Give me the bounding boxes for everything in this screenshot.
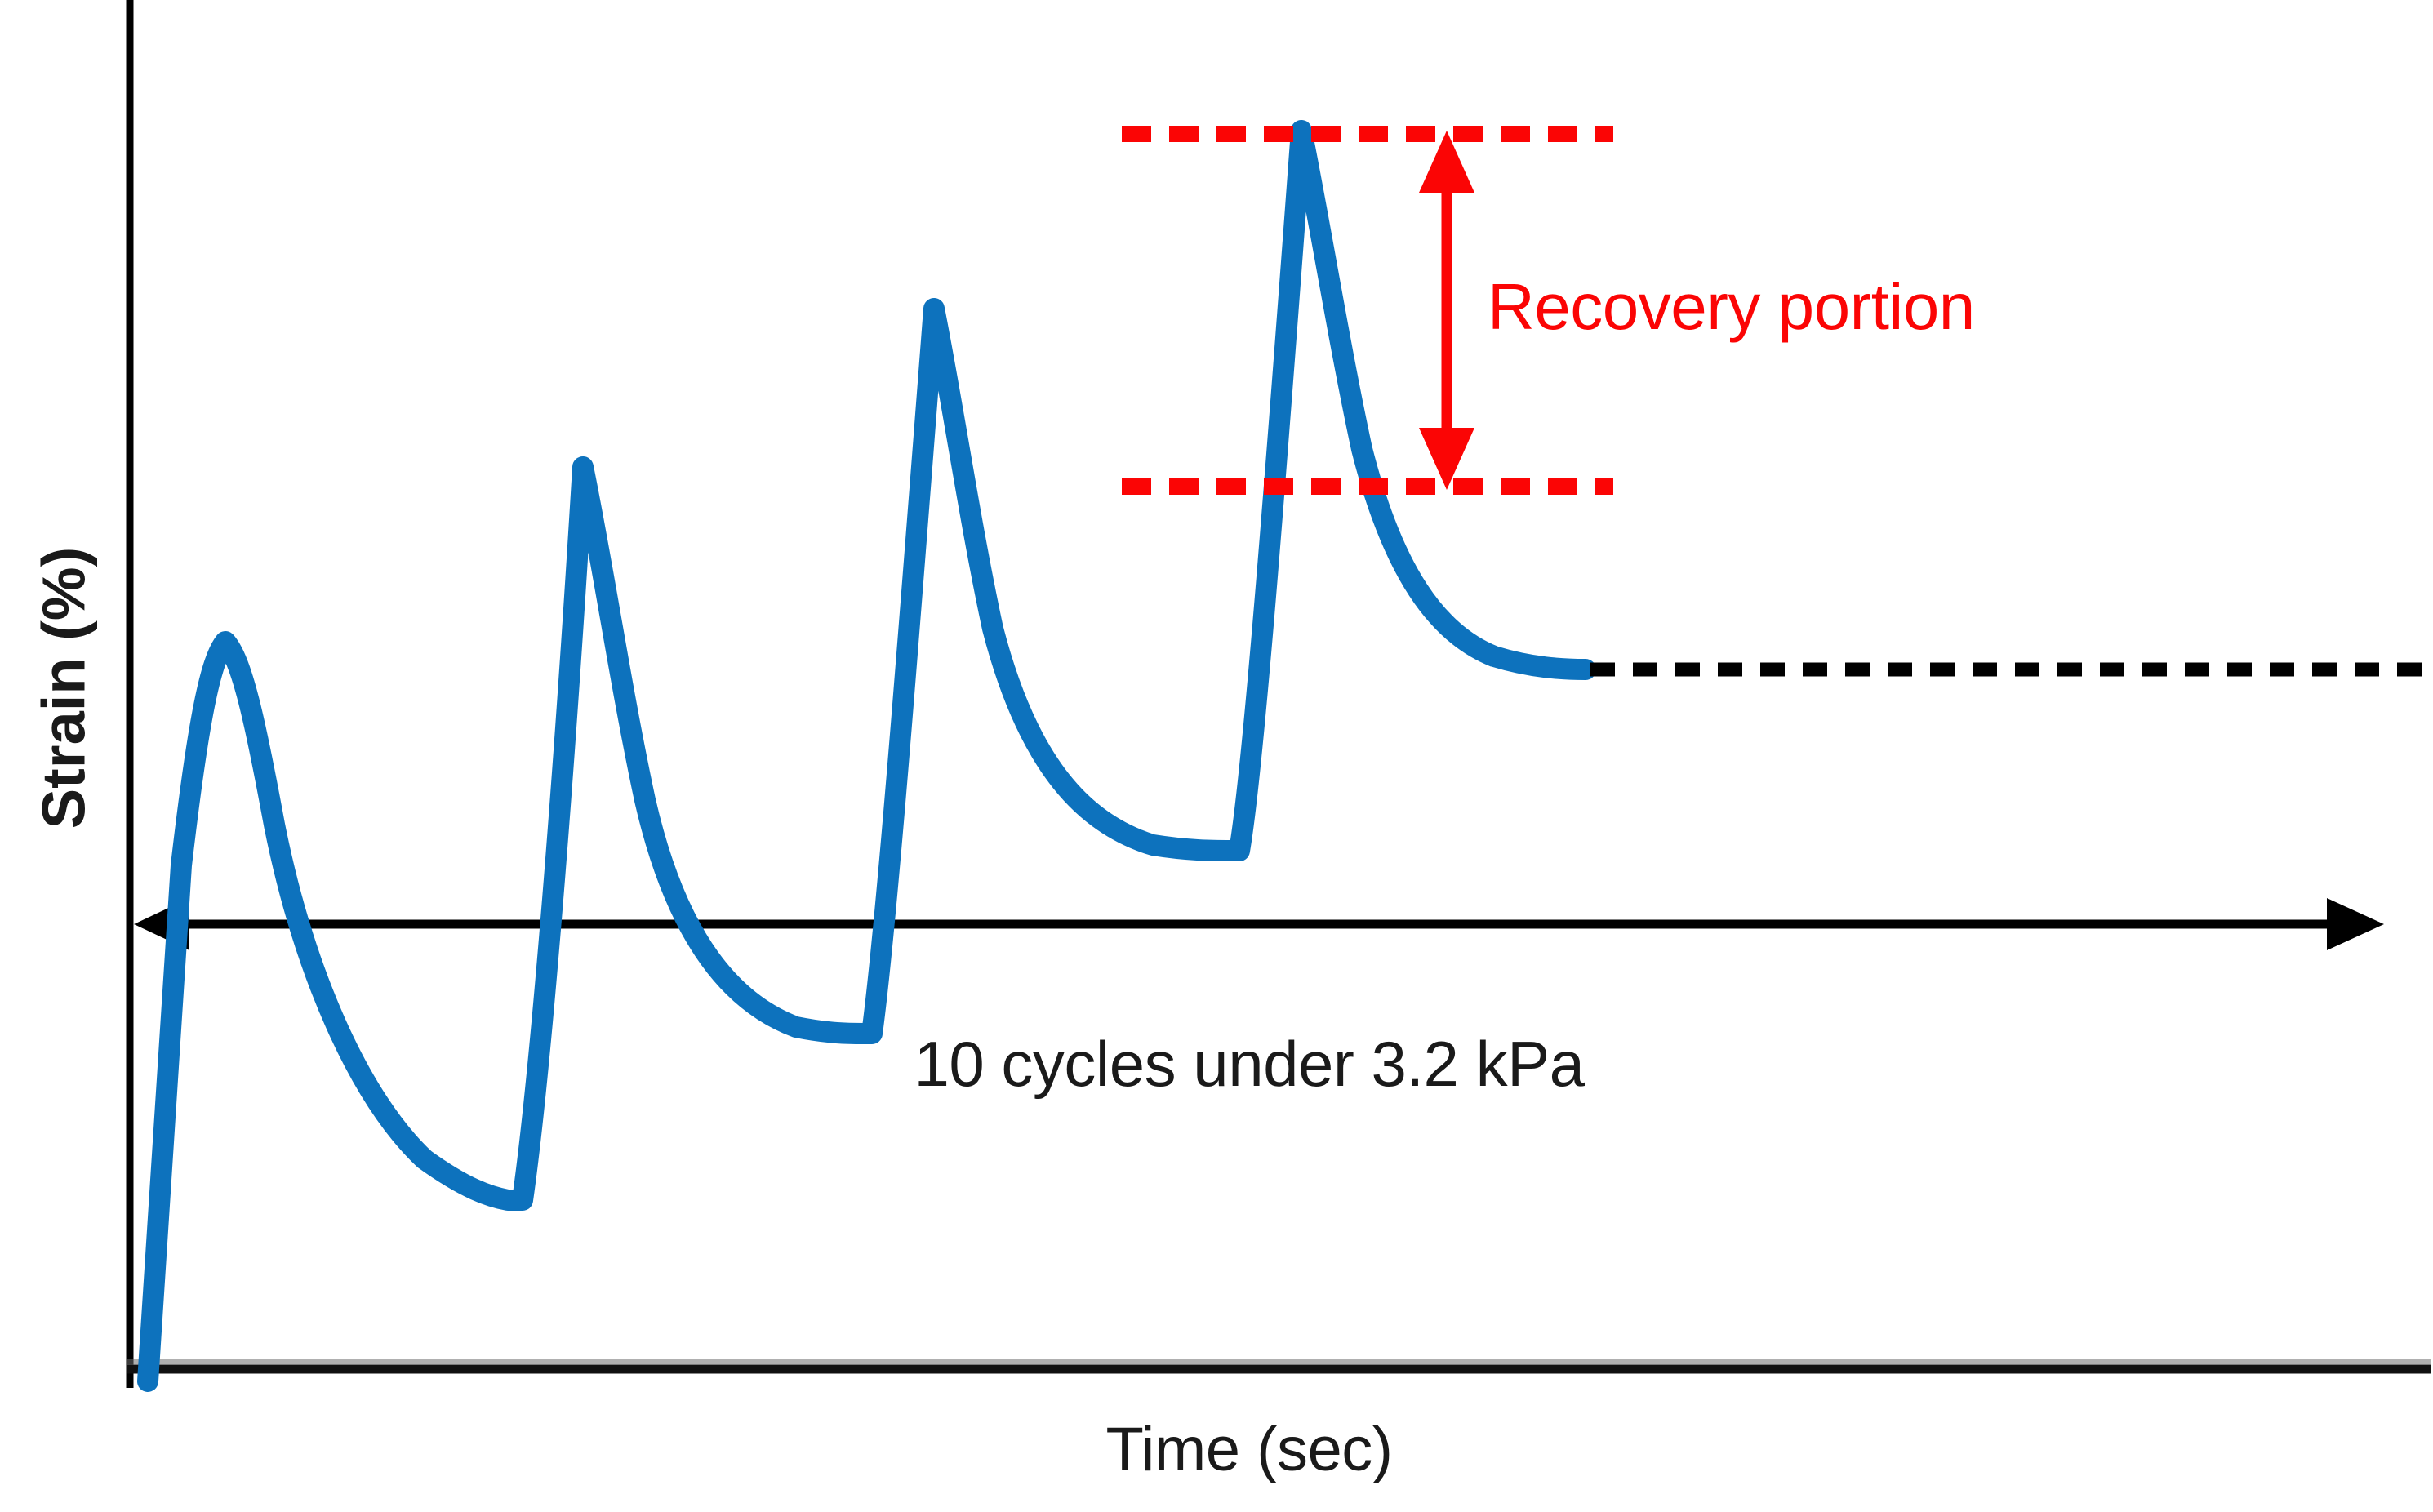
x-axis-label: Time (sec)	[0, 1414, 2433, 1485]
plot-canvas	[0, 0, 2433, 1512]
y-axis-label: Strain (%)	[29, 517, 99, 860]
chart-figure: Strain (%) Time (sec) 10 cycles under 3.…	[0, 0, 2433, 1512]
time-axis-arrowhead-right	[2327, 898, 2384, 950]
recovery-portion-label: Recovery portion	[1488, 269, 1975, 345]
strain-curve	[148, 131, 1586, 1381]
cycles-annotation: 10 cycles under 3.2 kPa	[0, 1027, 2433, 1101]
